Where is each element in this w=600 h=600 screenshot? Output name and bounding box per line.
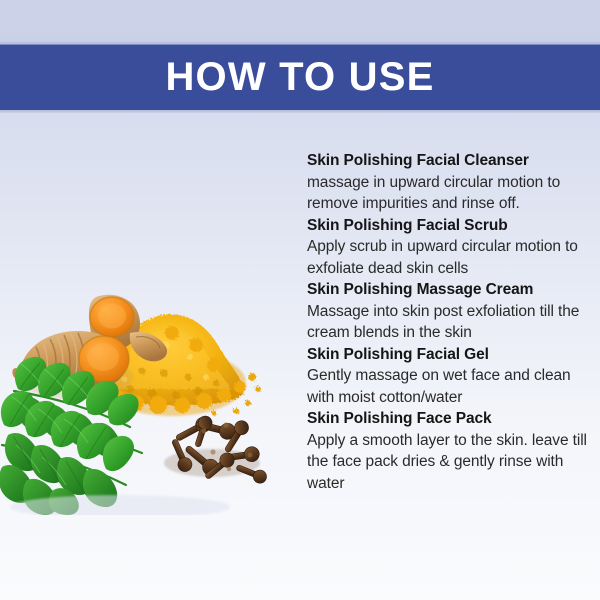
instruction-step: Skin Polishing Face Pack Apply a smooth … (307, 408, 587, 494)
step-body: Apply a smooth layer to the skin. leave … (307, 430, 587, 495)
how-to-use-banner: HOW TO USE (0, 44, 600, 110)
step-title: Skin Polishing Facial Gel (307, 344, 587, 366)
step-title: Skin Polishing Facial Cleanser (307, 150, 587, 172)
instruction-step: Skin Polishing Facial Scrub Apply scrub … (307, 215, 587, 280)
step-body: Apply scrub in upward circular motion to… (307, 236, 587, 279)
step-body: Gently massage on wet face and clean wit… (307, 365, 587, 408)
cloves (164, 414, 268, 485)
top-background-strip (0, 0, 600, 44)
step-title: Skin Polishing Face Pack (307, 408, 587, 430)
instructions-list: Skin Polishing Facial Cleanser massage i… (307, 150, 587, 494)
ingredients-image (0, 285, 300, 515)
banner-bottom-edge (0, 110, 600, 113)
page-title: HOW TO USE (165, 57, 434, 97)
step-title: Skin Polishing Massage Cream (307, 279, 587, 301)
step-title: Skin Polishing Facial Scrub (307, 215, 587, 237)
instruction-step: Skin Polishing Facial Cleanser massage i… (307, 150, 587, 215)
step-body: massage in upward circular motion to rem… (307, 172, 587, 215)
step-body: Massage into skin post exfoliation till … (307, 301, 587, 344)
how-to-use-page: HOW TO USE Skin Polishing Facial Cleanse… (0, 0, 600, 600)
instruction-step: Skin Polishing Massage Cream Massage int… (307, 279, 587, 344)
instruction-step: Skin Polishing Facial Gel Gently massage… (307, 344, 587, 409)
